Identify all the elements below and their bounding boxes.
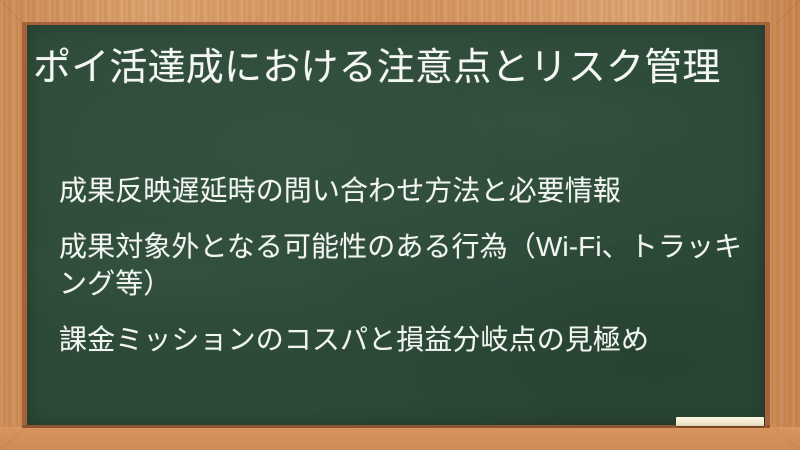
list-item: 課金ミッションのコスパと損益分岐点の見極め (59, 322, 759, 358)
chalk-stick (676, 417, 764, 426)
frame-bevel-right (765, 22, 770, 428)
chalkboard-surface: ポイ活達成における注意点とリスク管理 成果反映遅延時の問い合わせ方法と必要情報 … (27, 25, 765, 425)
list-item: 成果反映遅延時の問い合わせ方法と必要情報 (59, 173, 759, 209)
list-item: 成果対象外となる可能性のある行為（Wi-Fi、トラッキング等） (59, 229, 759, 302)
slide-bullet-list: 成果反映遅延時の問い合わせ方法と必要情報 成果対象外となる可能性のある行為（Wi… (59, 173, 759, 359)
chalkboard-slide: ポイ活達成における注意点とリスク管理 成果反映遅延時の問い合わせ方法と必要情報 … (0, 0, 800, 450)
frame-rail-bottom (0, 427, 800, 450)
slide-title: ポイ活達成における注意点とリスク管理 (33, 47, 749, 90)
frame-bevel-bottom (22, 425, 770, 428)
frame-rail-top (0, 0, 800, 24)
